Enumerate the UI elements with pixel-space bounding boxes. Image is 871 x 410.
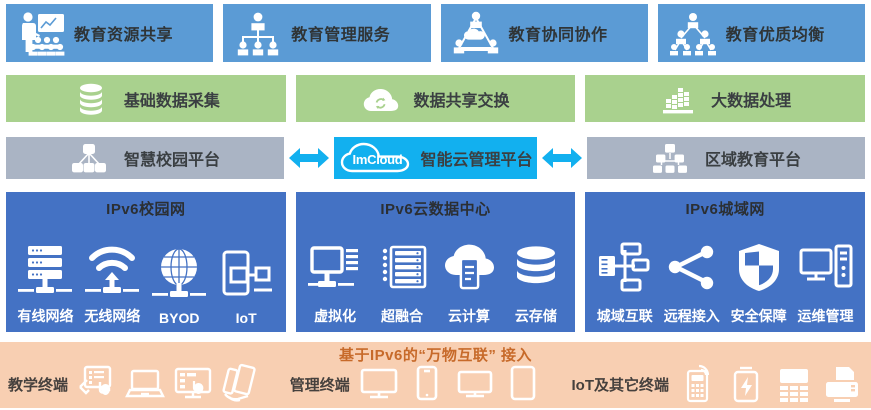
platform-card-label: 智能云管理平台 <box>420 146 532 170</box>
data-card-data-sharing-exchange[interactable]: 数据共享交换 <box>296 75 576 122</box>
teacher-presentation-icon <box>16 10 66 56</box>
terminals-banner: 基于IPv6的“万物互联” 接入 <box>0 344 871 364</box>
cloud-storage-disks-icon <box>508 242 564 304</box>
printer-icon[interactable] <box>821 363 863 405</box>
network-items: 有线网络 <box>6 219 286 332</box>
network-item-label: 有线网络 <box>17 306 73 326</box>
network-item-byod[interactable]: BYOD <box>146 246 212 326</box>
network-item-label: BYOD <box>159 310 199 326</box>
cloud-compute-icon <box>441 242 497 304</box>
network-item-remote-access[interactable]: 远程接入 <box>659 242 725 326</box>
network-item-iot[interactable]: IoT <box>213 246 279 326</box>
network-item-label: 远程接入 <box>664 306 720 326</box>
network-item-cloud-storage[interactable]: 云存储 <box>503 242 569 326</box>
cloud-brand-label: ImCloud <box>338 141 416 175</box>
network-item-hyperconverged[interactable]: 超融合 <box>369 242 435 326</box>
terminal-group-label: 管理终端 <box>290 374 350 395</box>
big-data-bars-icon <box>659 82 697 116</box>
network-item-label: 运维管理 <box>798 306 854 326</box>
tablet-hand-icon[interactable] <box>76 363 118 405</box>
network-item-label: 城域互联 <box>597 306 653 326</box>
network-item-label: 云存储 <box>515 306 557 326</box>
service-card-label: 教育资源共享 <box>74 21 173 45</box>
data-layer-row: 基础数据采集 数据共享交换 <box>0 75 871 122</box>
network-panel-campus: IPv6校园网 <box>6 192 286 332</box>
terminal-group-management: 管理终端 <box>290 363 544 405</box>
database-stack-icon <box>72 82 110 116</box>
monitor-icon[interactable] <box>454 363 496 405</box>
terminals-row: 基于IPv6的“万物互联” 接入 教学终端 <box>0 342 871 408</box>
platform-card-smart-campus[interactable]: 智慧校园平台 <box>6 137 284 179</box>
power-battery-icon[interactable] <box>725 363 767 405</box>
phone-in-hand-icon[interactable] <box>220 363 262 405</box>
service-card-label: 教育管理服务 <box>291 21 390 45</box>
service-card-label: 教育协同协作 <box>509 21 608 45</box>
terminal-groups: 教学终端 <box>0 362 871 408</box>
platform-arrow-right <box>537 137 587 179</box>
metro-interconnect-icon <box>597 242 653 304</box>
double-arrow-icon <box>289 145 329 171</box>
platform-card-regional-education[interactable]: 区域教育平台 <box>587 137 865 179</box>
network-item-wireless[interactable]: 无线网络 <box>79 242 145 326</box>
platform-arrow-left <box>284 137 334 179</box>
desktop-monitor-icon[interactable] <box>358 363 400 405</box>
org-chart-people-icon <box>233 10 283 56</box>
network-item-label: 超融合 <box>381 306 423 326</box>
network-item-ops-management[interactable]: 运维管理 <box>793 242 859 326</box>
terminal-group-label: IoT及其它终端 <box>572 374 670 395</box>
network-panel-metro: IPv6城域网 <box>585 192 865 332</box>
platform-card-intelligent-cloud[interactable]: ImCloud 智能云管理平台 <box>334 137 537 179</box>
network-item-security[interactable]: 安全保障 <box>726 242 792 326</box>
platform-row: 智慧校园平台 ImCloud 智能云管理平台 <box>0 137 871 179</box>
people-network-icon <box>668 10 718 56</box>
architecture-diagram: 教育资源共享 教育管理服务 <box>0 0 871 408</box>
network-item-label: 虚拟化 <box>314 306 356 326</box>
cloud-sync-icon <box>362 82 400 116</box>
monitor-virtualization-icon <box>307 242 363 304</box>
data-card-label: 大数据处理 <box>711 87 791 111</box>
server-rack-icon <box>17 242 73 304</box>
data-card-label: 基础数据采集 <box>124 87 220 111</box>
terminal-group-teaching: 教学终端 <box>8 363 262 405</box>
data-card-basic-data-collection[interactable]: 基础数据采集 <box>6 75 286 122</box>
terminal-group-label: 教学终端 <box>8 374 68 395</box>
network-panel-title: IPv6城域网 <box>686 198 765 219</box>
service-card-label: 教育优质均衡 <box>726 21 825 45</box>
data-card-label: 数据共享交换 <box>414 87 510 111</box>
service-card-education-resource-sharing[interactable]: 教育资源共享 <box>6 4 213 62</box>
smartphone-icon[interactable] <box>406 363 448 405</box>
network-item-label: 云计算 <box>448 306 490 326</box>
regional-blocks-icon <box>651 141 689 175</box>
networks-row: IPv6校园网 <box>0 192 871 332</box>
terminal-group-iot: IoT及其它终端 <box>572 363 864 405</box>
laptop-icon[interactable] <box>124 363 166 405</box>
tablet-icon[interactable] <box>502 363 544 405</box>
network-items: 虚拟化 <box>296 219 576 332</box>
data-card-big-data-processing[interactable]: 大数据处理 <box>585 75 865 122</box>
desktop-touch-icon[interactable] <box>172 363 214 405</box>
network-item-label: IoT <box>236 310 257 326</box>
double-arrow-icon <box>542 145 582 171</box>
campus-hierarchy-icon <box>70 141 108 175</box>
service-card-education-management-service[interactable]: 教育管理服务 <box>223 4 430 62</box>
shield-icon <box>731 242 787 304</box>
network-panel-title: IPv6校园网 <box>106 198 185 219</box>
network-item-label: 无线网络 <box>84 306 140 326</box>
hyperconverged-rack-icon <box>374 242 430 304</box>
service-card-education-quality-balance[interactable]: 教育优质均衡 <box>658 4 865 62</box>
globe-icon <box>151 246 207 308</box>
ops-monitor-icon <box>798 242 854 304</box>
share-nodes-icon <box>664 242 720 304</box>
network-panel-datacenter: IPv6云数据中心 <box>296 192 576 332</box>
network-item-metro-interconnect[interactable]: 城域互联 <box>592 242 658 326</box>
network-items: 城域互联 <box>585 219 865 332</box>
network-panel-title: IPv6云数据中心 <box>380 198 490 219</box>
network-item-wired[interactable]: 有线网络 <box>12 242 78 326</box>
wifi-icon <box>84 242 140 304</box>
platform-card-label: 区域教育平台 <box>705 146 801 170</box>
iot-device-icon <box>218 246 274 308</box>
service-card-education-collaboration[interactable]: 教育协同协作 <box>441 4 648 62</box>
services-row: 教育资源共享 教育管理服务 <box>0 4 871 62</box>
platform-card-label: 智慧校园平台 <box>124 146 220 170</box>
pos-terminal-icon[interactable] <box>773 363 815 405</box>
network-item-label: 安全保障 <box>731 306 787 326</box>
network-item-virtualization[interactable]: 虚拟化 <box>302 242 368 326</box>
cloud-collaboration-icon <box>451 10 501 56</box>
cloud-logo-icon: ImCloud <box>338 141 416 175</box>
network-item-cloud-computing[interactable]: 云计算 <box>436 242 502 326</box>
cordless-phone-icon[interactable] <box>677 363 719 405</box>
